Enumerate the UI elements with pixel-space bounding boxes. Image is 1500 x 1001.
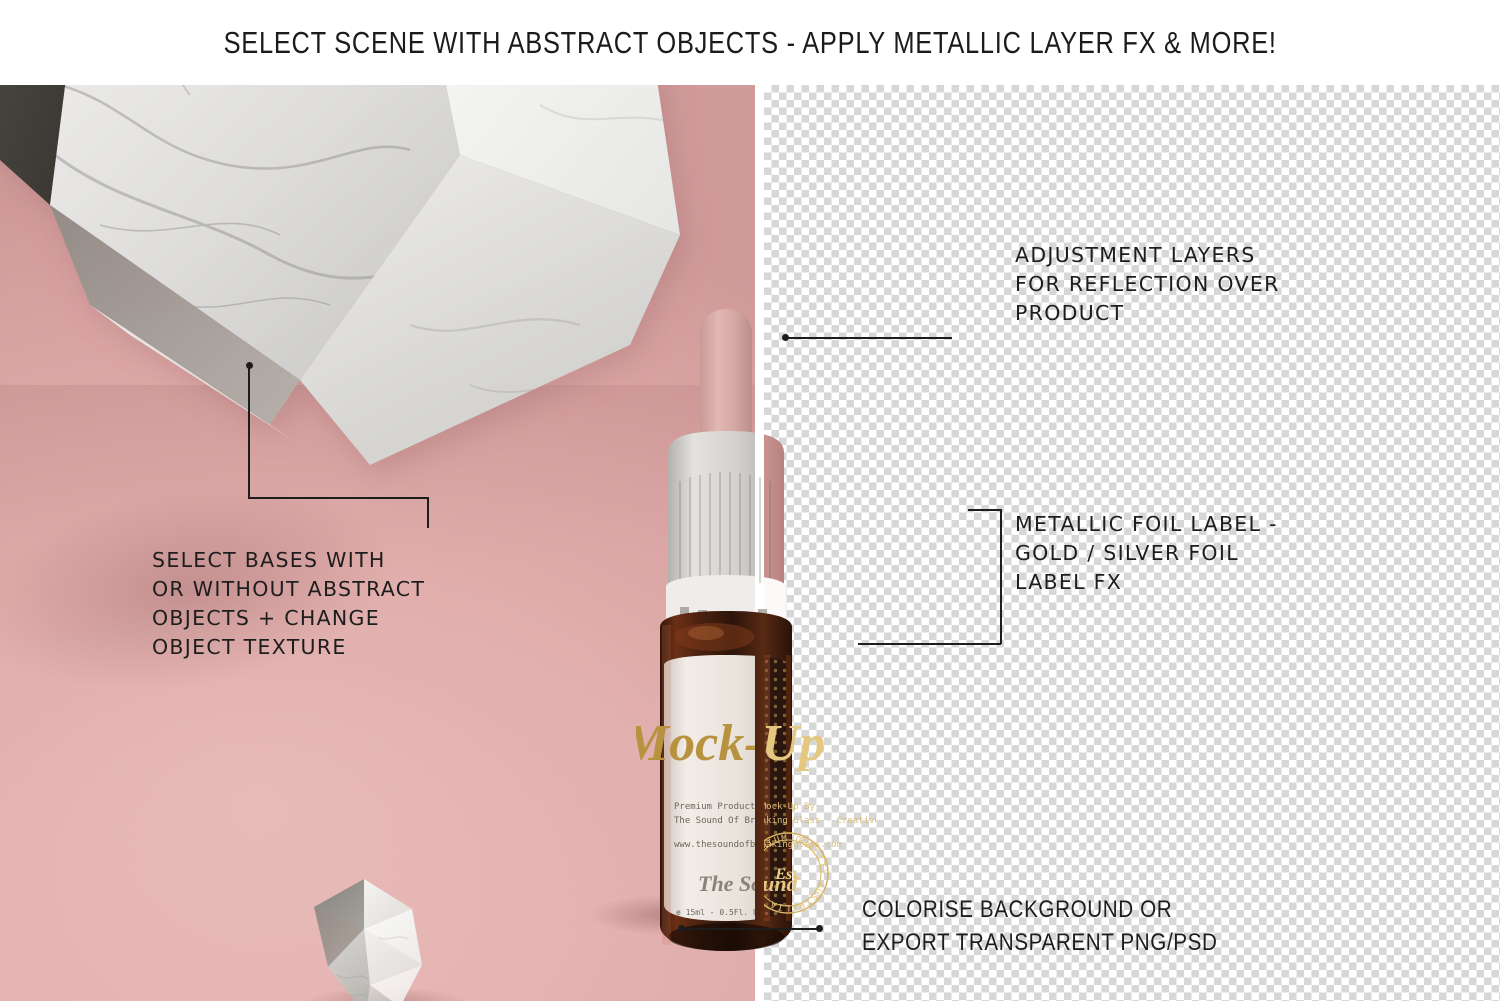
- annotation-line: COLORISE BACKGROUND OR: [862, 893, 1218, 926]
- annotation-line: EXPORT TRANSPARENT PNG/PSD: [862, 926, 1218, 959]
- leader-line-foil-horizontal-bottom: [858, 643, 1001, 645]
- leader-line-bases-vertical-bottom: [427, 497, 429, 528]
- annotation-line: OR WITHOUT ABSTRACT: [152, 575, 425, 604]
- leader-line-foil-vertical: [1000, 509, 1002, 644]
- annotation-adjustment-layers: ADJUSTMENT LAYERS FOR REFLECTION OVER PR…: [1015, 241, 1280, 328]
- annotation-line: GOLD / SILVER FOIL: [1015, 539, 1278, 568]
- marble-polyhedron-large: [0, 85, 680, 545]
- annotation-line: OBJECTS + CHANGE: [152, 604, 425, 633]
- dropper-bottle-mockup: Mock-Up Mock-Up Premium Product Mock-Up …: [636, 225, 876, 965]
- leader-line-foil-horizontal-top: [968, 509, 1002, 511]
- annotation-line: PRODUCT: [1015, 299, 1280, 328]
- leader-dot-adjustment: [782, 334, 789, 341]
- header-bar: SELECT SCENE WITH ABSTRACT OBJECTS - APP…: [0, 0, 1500, 85]
- annotation-line: SELECT BASES WITH: [152, 546, 425, 575]
- leader-line-bases-horizontal: [248, 497, 428, 499]
- svg-text:Est.: Est.: [774, 866, 800, 883]
- annotation-line: OBJECT TEXTURE: [152, 633, 425, 662]
- leader-line-bases-vertical-top: [248, 366, 250, 498]
- annotation-select-bases: SELECT BASES WITH OR WITHOUT ABSTRACT OB…: [152, 546, 425, 662]
- leader-dot-colorise-left: [678, 925, 685, 932]
- leader-line-colorise: [682, 928, 818, 930]
- annotation-metallic-foil-label: METALLIC FOIL LABEL - GOLD / SILVER FOIL…: [1015, 510, 1278, 597]
- annotation-line: METALLIC FOIL LABEL -: [1015, 510, 1278, 539]
- annotation-line: FOR REFLECTION OVER: [1015, 270, 1280, 299]
- leader-line-adjustment: [786, 337, 952, 339]
- annotation-line: ADJUSTMENT LAYERS: [1015, 241, 1280, 270]
- leader-dot-bases: [246, 362, 253, 369]
- leader-dot-colorise-right: [816, 925, 823, 932]
- annotation-colorise-background: COLORISE BACKGROUND OR EXPORT TRANSPAREN…: [862, 893, 1218, 959]
- marble-icosahedron-small: [292, 867, 457, 1001]
- mockup-stage: Mock-Up Mock-Up Premium Product Mock-Up …: [0, 85, 1500, 1001]
- annotation-line: LABEL FX: [1015, 568, 1278, 597]
- page-title: SELECT SCENE WITH ABSTRACT OBJECTS - APP…: [223, 25, 1276, 61]
